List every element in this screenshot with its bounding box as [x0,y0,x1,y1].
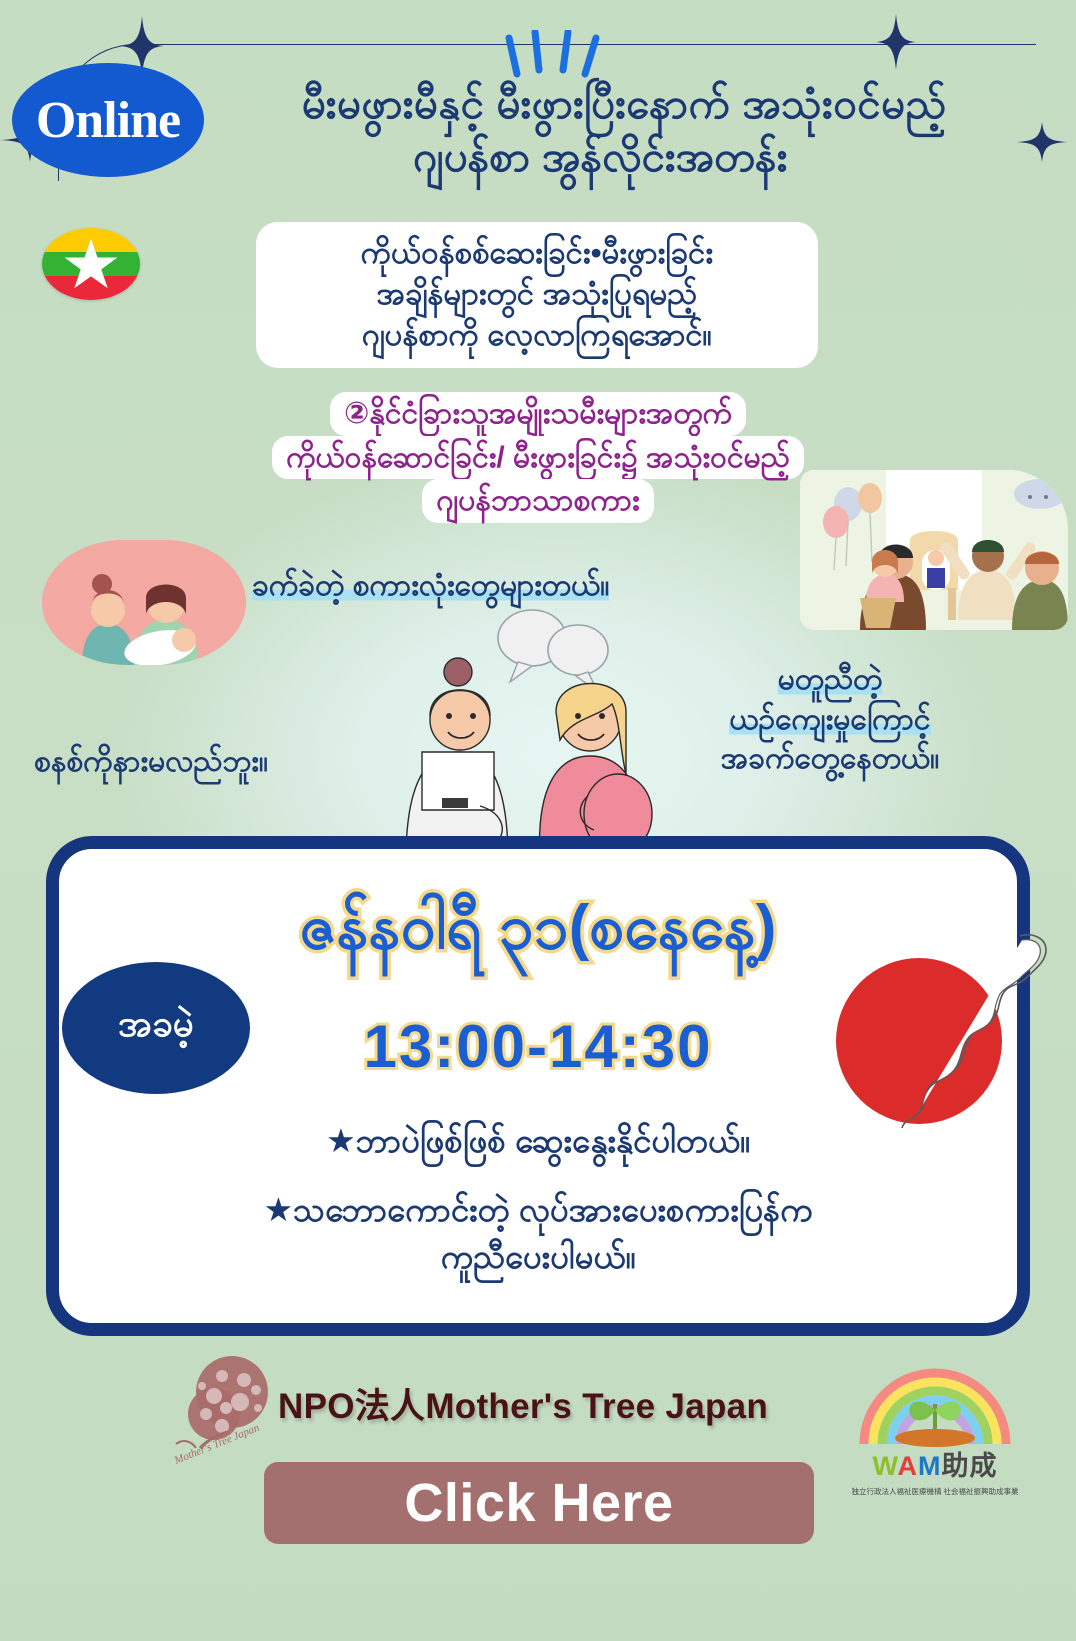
wam-suffix: 助成 [942,1451,998,1481]
click-here-label: Click Here [404,1472,673,1534]
headline-line-2: ဂျပန်စာ အွန်လိုင်းအတန်း [150,131,1050,184]
poster-canvas: Online မီးမဖွားမီနှင့် မီးဖွားပြီးနောက် … [0,0,1076,1641]
wam-sponsor-logo: WAM助成 独立行政法人福祉医療機構 社会福祉振興助成事業 [830,1348,1040,1518]
caption-right: မတူညီတဲ့ ယဉ်ကျေးမှုကြောင့် အခက်တွေ့နေတယ်… [660,660,1000,779]
poster-headline: မီးမဖွားမီနှင့် မီးဖွားပြီးနောက် အသုံးဝင… [150,78,1050,184]
myanmar-flag-icon [42,228,140,300]
caption-right-line-1: မတူညီတဲ့ [778,663,883,696]
illustration-mother-and-nurse [42,540,246,665]
event-bullet-list: ★ဘာပဲဖြစ်ဖြစ် ဆွေးနွေးနိုင်ပါတယ်။ ★သဘောက… [86,1118,990,1281]
click-here-button[interactable]: Click Here [264,1462,814,1544]
caption-left-text: စနစ်ကိုနားမလည်ဘူး။ [34,745,268,778]
mothers-tree-japan-logo-icon: Mother's Tree Japan [170,1352,288,1470]
wam-letter-a: A [898,1451,919,1481]
purple-row-2: ကိုယ်ဝန်ဆောင်ခြင်း/ မီးဖွားခြင်း၌ အသုံးဝ… [0,436,1076,480]
event-bullet-1: ★ဘာပဲဖြစ်ဖြစ် ဆွေးနွေးနိုင်ပါတယ်။ [86,1118,990,1165]
event-bullet-2-line-1: ★သဘောကောင်းတဲ့ လုပ်အားပေးစကားပြန်က [86,1187,990,1234]
info-line-3: ဂျပန်စာကို လေ့လာကြရအောင်။ [272,314,802,355]
burst-rays-icon [505,30,605,80]
purple-line-1: ②နိုင်ငံခြားသူအမျိုးသမီးများအတွက် [330,392,746,436]
purple-row-3: ဂျပန်ဘာသာစကား [0,479,1076,523]
wam-wordmark: WAM助成 [830,1444,1040,1483]
online-badge-label: Online [36,91,180,150]
event-time: 13:00-14:30 [46,1012,1030,1081]
flag-star-icon [64,237,118,291]
event-bullet-2-line-2: ကူညီပေးပါမယ်။ [86,1234,990,1281]
caption-top: ခက်ခဲတဲ့ စကားလုံးတွေများတယ်။ [252,566,609,606]
illustration-nurse-and-pregnant-woman [350,600,710,860]
wam-letter-m: M [918,1451,942,1481]
event-date: ဇန်နဝါရီ ၃၁(စနေနေ့) [46,888,1030,979]
purple-info-section: ②နိုင်ငံခြားသူအမျိုးသမီးများအတွက် ကိုယ်ဝ… [0,392,1076,523]
caption-left: စနစ်ကိုနားမလည်ဘူး။ [34,742,268,782]
info-line-2: အချိန်များတွင် အသုံးပြုရမည့် [272,273,802,314]
purple-row-1: ②နိုင်ငံခြားသူအမျိုးသမီးများအတွက် [0,392,1076,436]
wam-sponsor-subtitle: 独立行政法人福祉医療機構 社会福祉振興助成事業 [830,1486,1040,1497]
headline-line-1: မီးမဖွားမီနှင့် မီးဖွားပြီးနောက် အသုံးဝင… [150,78,1050,129]
caption-right-line-2: ယဉ်ကျေးမှုကြောင့် [729,703,930,736]
caption-right-line-3: အခက်တွေ့နေတယ်။ [721,742,940,775]
purple-line-2: ကိုယ်ဝန်ဆောင်ခြင်း/ မီးဖွားခြင်း၌ အသုံးဝ… [272,436,804,480]
wam-rainbow-sprout-logo-icon [850,1348,1020,1448]
sparkle-icon [876,14,916,70]
wam-letter-w: W [873,1451,898,1481]
organization-name: NPO法人Mother's Tree Japan [278,1378,798,1429]
online-badge: Online [12,63,204,177]
purple-line-3: ဂျပန်ဘာသာစကား [422,479,653,523]
caption-top-text: ခက်ခဲတဲ့ စကားလုံးတွေများတယ်။ [252,569,609,602]
info-box: ကိုယ်ဝန်စစ်ဆေးခြင်း•မီးဖွားခြင်း အချိန်မ… [256,222,818,368]
info-line-1: ကိုယ်ဝန်စစ်ဆေးခြင်း•မီးဖွားခြင်း [272,232,802,273]
